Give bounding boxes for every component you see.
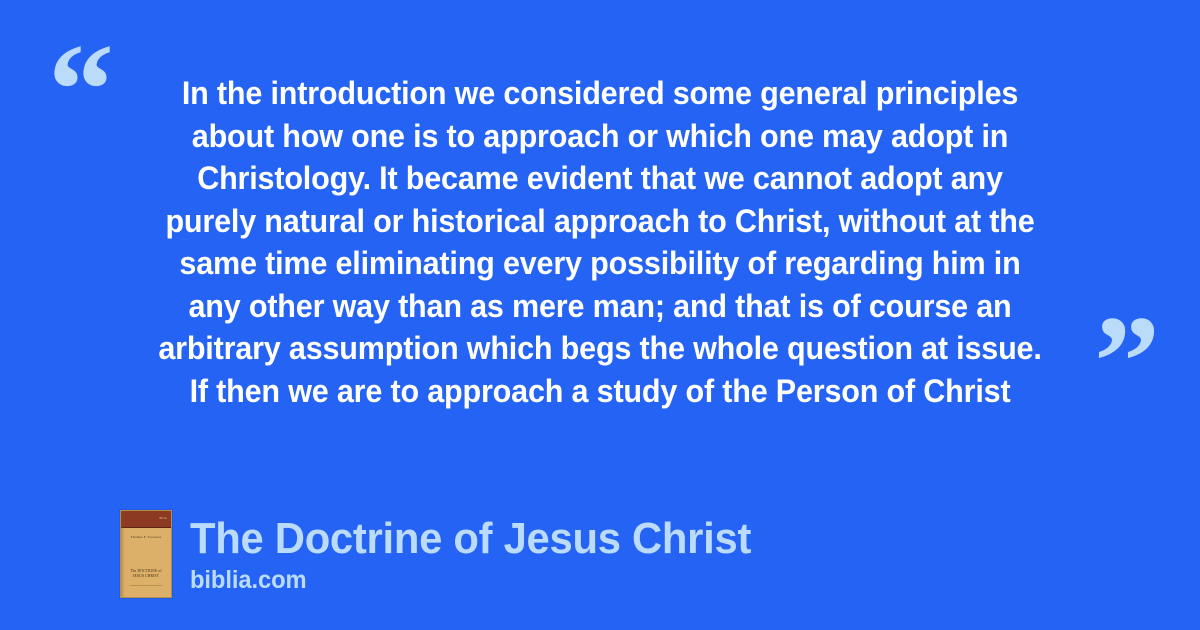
- close-quote-icon: ”: [1094, 296, 1160, 428]
- site-name[interactable]: biblia.com: [190, 564, 751, 596]
- quote-text: In the introduction we considered some g…: [149, 72, 1051, 412]
- quote-block: “ In the introduction we considered some…: [0, 0, 1200, 450]
- quote-line: about how one is to approach or which on…: [149, 115, 1051, 158]
- quote-line: arbitrary assumption which begs the whol…: [149, 327, 1051, 370]
- book-cover-title-line-2: JESUS CHRIST: [121, 574, 171, 579]
- attribution-footer: Biblia Thomas F. Torrance The DOCTRINE o…: [120, 510, 781, 598]
- book-cover-publisher: Biblia: [159, 517, 167, 520]
- book-cover-author: Thomas F. Torrance: [121, 535, 171, 539]
- open-quote-icon: “: [48, 24, 114, 156]
- quote-line: same time eliminating every possibility …: [149, 242, 1051, 285]
- quote-card: “ In the introduction we considered some…: [0, 0, 1200, 630]
- book-cover-title: The DOCTRINE of JESUS CHRIST: [121, 569, 171, 580]
- book-cover-divider: [130, 585, 162, 586]
- quote-line: purely natural or historical approach to…: [149, 200, 1051, 243]
- quote-line: If then we are to approach a study of th…: [149, 370, 1051, 413]
- quote-line: Christology. It became evident that we c…: [149, 157, 1051, 200]
- book-title: The Doctrine of Jesus Christ: [190, 514, 751, 564]
- book-spine-shadow: [121, 511, 125, 597]
- quote-line: any other way than as mere man; and that…: [149, 285, 1051, 328]
- attribution-text: The Doctrine of Jesus Christ biblia.com: [190, 514, 781, 598]
- quote-line: In the introduction we considered some g…: [149, 72, 1051, 115]
- book-cover-thumbnail: Biblia Thomas F. Torrance The DOCTRINE o…: [120, 510, 172, 598]
